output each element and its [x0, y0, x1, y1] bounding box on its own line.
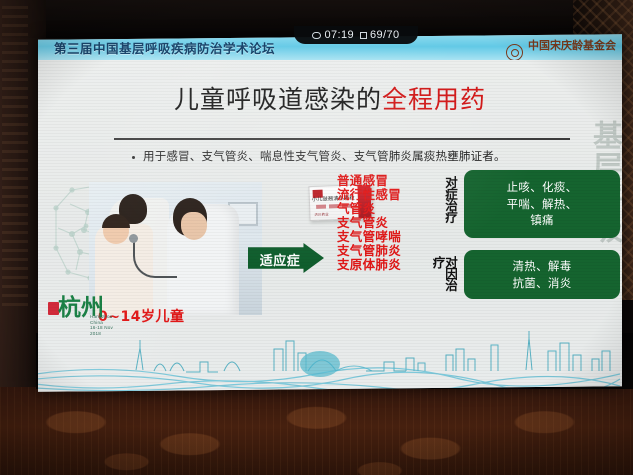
page-square-icon	[360, 32, 367, 39]
conference-title: 第三届中国基层呼吸疾病防治学术论坛	[54, 38, 275, 57]
slide-title: 儿童呼吸道感染的全程用药	[38, 80, 622, 116]
clinic-photo	[89, 182, 262, 315]
hangzhou-en-line1: Hangzhou	[90, 314, 113, 320]
left-wall-panel	[2, 6, 28, 306]
bullet-text: 用于感冒、支气管炎、喘息性支气管炎、支气管肺炎属痰热壅肺证者。	[143, 148, 506, 164]
treatment-group-symptomatic: 对症治疗 止咳、化痰、 平喘、解热、 镇痛	[434, 170, 620, 238]
indication-list: 普通感冒 流行性感冒 气管炎 支气管炎 支气管哮喘 支气管肺炎 支原体肺炎	[337, 174, 401, 272]
osd-page-counter: 69/70	[370, 29, 400, 41]
conference-room-photo: 第三届中国基层呼吸疾病防治学术论坛 中国宋庆龄基金会 CHINA SOONG C…	[0, 0, 633, 475]
list-item: 支气管哮喘	[337, 230, 401, 244]
treatment-label: 对因治疗	[434, 256, 456, 299]
osd-page: 69/70	[360, 29, 400, 41]
slide-title-plain: 儿童呼吸道感染的	[174, 85, 382, 114]
osd-time: 07:19	[324, 29, 354, 41]
osd-overlay: 07:19 69/70	[294, 26, 418, 44]
treatment-group-causal: 对因治疗 清热、解毒 抗菌、消炎	[434, 250, 620, 299]
sponsor-name-cn: 中国宋庆龄基金会	[528, 39, 616, 52]
stethoscope-bell-icon	[129, 234, 138, 243]
list-item: 普通感冒	[337, 174, 401, 188]
title-divider	[114, 138, 570, 140]
list-item: 气管炎	[337, 202, 401, 216]
projection-screen: 第三届中国基层呼吸疾病防治学术论坛 中国宋庆龄基金会 CHINA SOONG C…	[38, 34, 622, 392]
list-item: 支气管炎	[337, 216, 401, 230]
carpet-floor	[0, 387, 633, 475]
photo-doctor-face	[181, 212, 207, 240]
bullet-row: 用于感冒、支气管炎、喘息性支气管炎、支气管肺炎属痰热壅肺证者。	[132, 148, 584, 164]
indication-arrow: 适应症	[248, 243, 324, 273]
medicine-box-maker: 济川药业	[314, 211, 329, 216]
clock-icon	[312, 32, 321, 39]
treatment-column: 对症治疗 止咳、化痰、 平喘、解热、 镇痛 对因治疗 清热、解毒 抗菌、消炎	[434, 170, 620, 311]
indication-arrow-label: 适应症	[254, 250, 306, 269]
bullet-dot-icon	[132, 156, 135, 159]
treatment-label: 对症治疗	[434, 176, 456, 222]
osd-clock: 07:19	[312, 29, 354, 41]
list-item: 支气管肺炎	[337, 244, 401, 258]
list-item: 流行性感冒	[337, 188, 401, 202]
stethoscope-icon	[133, 238, 177, 278]
slide-body: 基层呼吸 儿童呼吸道感染的全程用药 用于感冒、支气管炎、喘息性支气管炎、支气管肺…	[38, 60, 622, 392]
slide-title-highlight: 全程用药	[382, 85, 486, 114]
treatment-card: 清热、解毒 抗菌、消炎	[464, 250, 620, 299]
sponsor-emblem-icon	[506, 44, 523, 61]
list-item: 支原体肺炎	[337, 258, 401, 272]
treatment-card: 止咳、化痰、 平喘、解热、 镇痛	[464, 170, 620, 238]
skyline-decoration	[38, 324, 620, 392]
